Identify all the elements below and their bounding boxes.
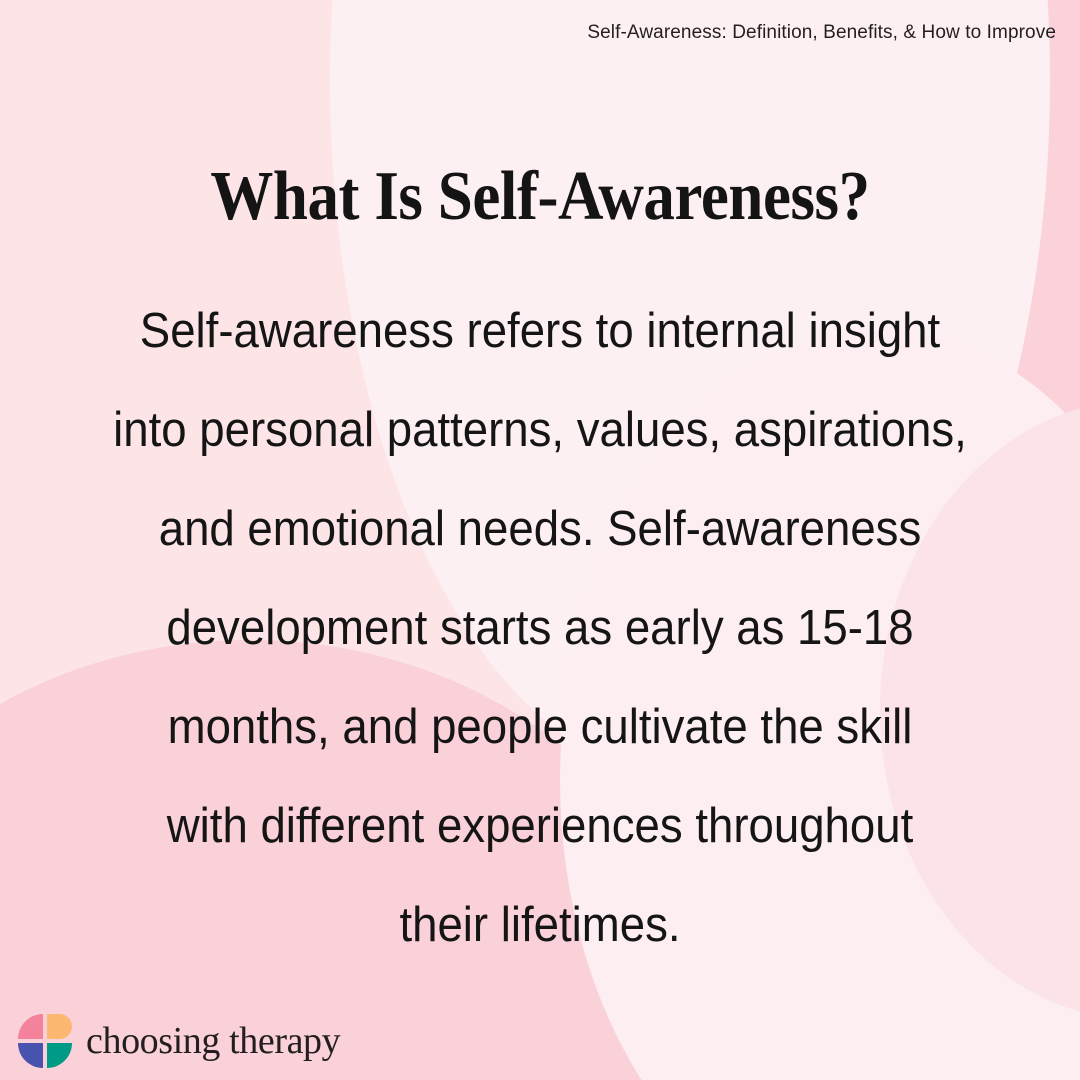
body-line: their lifetimes. <box>103 876 977 975</box>
body-line: months, and people cultivate the skill <box>103 678 977 777</box>
logo-quadrant-top-right <box>47 1014 72 1039</box>
page-title: What Is Self-Awareness? <box>54 162 1026 232</box>
body-line: and emotional needs. Self-awareness <box>103 480 977 579</box>
body-line: into personal patterns, values, aspirati… <box>103 381 977 480</box>
card-content: Self-Awareness: Definition, Benefits, & … <box>0 0 1080 1080</box>
body-line: development starts as early as 15-18 <box>103 579 977 678</box>
article-title-eyebrow: Self-Awareness: Definition, Benefits, & … <box>587 22 1056 44</box>
body-line: Self-awareness refers to internal insigh… <box>103 282 977 381</box>
social-quote-card: Self-Awareness: Definition, Benefits, & … <box>0 0 1080 1080</box>
logo-quadrant-bottom-left <box>18 1043 43 1068</box>
logo-quadrant-bottom-right <box>47 1043 72 1068</box>
choosing-therapy-logo-mark-icon <box>18 1014 72 1068</box>
logo-quadrant-top-left <box>18 1014 43 1039</box>
brand-logo: choosing therapy <box>18 1014 340 1068</box>
logo-wordmark: choosing therapy <box>86 1022 340 1060</box>
body-line: with different experiences throughout <box>103 777 977 876</box>
body-paragraph: Self-awareness refers to internal insigh… <box>103 282 977 975</box>
